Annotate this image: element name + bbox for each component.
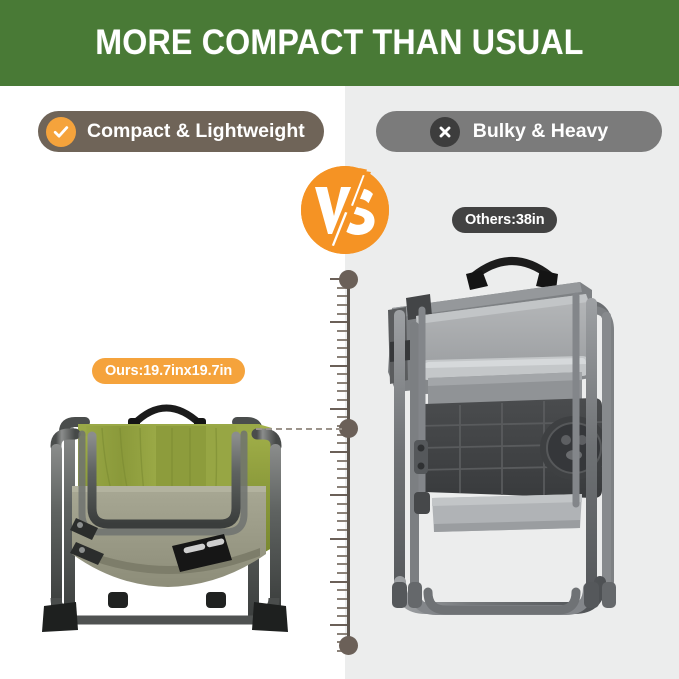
- badge-bulky-heavy: Bulky & Heavy: [376, 111, 662, 152]
- ruler-tick: [337, 416, 347, 418]
- ruler-tick: [337, 589, 347, 591]
- ruler-tick: [337, 468, 347, 470]
- ruler-tick: [330, 321, 347, 323]
- dimension-label-ours: Ours:19.7inx19.7in: [92, 358, 245, 384]
- infographic-root: MORE COMPACT THAN USUAL Compact & Lightw…: [0, 0, 679, 679]
- ruler-tick: [337, 382, 347, 384]
- measurement-ruler: [322, 270, 362, 660]
- versus-badge: [301, 166, 389, 254]
- product-image-others-folded-chair: [370, 252, 662, 656]
- header-banner: MORE COMPACT THAN USUAL: [0, 0, 679, 86]
- badge-right-label: Bulky & Heavy: [473, 120, 608, 143]
- ruler-tick: [337, 295, 347, 297]
- ruler-tick: [337, 313, 347, 315]
- ruler-tick: [337, 330, 347, 332]
- check-circle-icon: [46, 117, 76, 147]
- ruler-tick: [330, 494, 347, 496]
- ruler-marker-bottom: [339, 636, 358, 655]
- ruler-axis: [347, 278, 350, 653]
- ruler-tick: [337, 615, 347, 617]
- ruler-tick: [337, 572, 347, 574]
- measurement-connector-line: [256, 428, 342, 430]
- badge-compact-lightweight: Compact & Lightweight: [38, 111, 324, 152]
- ruler-tick: [330, 624, 347, 626]
- dimension-label-others: Others:38in: [452, 207, 557, 233]
- ruler-tick: [337, 555, 347, 557]
- badge-left-label: Compact & Lightweight: [87, 120, 305, 143]
- ruler-tick: [337, 373, 347, 375]
- ruler-tick: [337, 399, 347, 401]
- ruler-tick: [330, 451, 347, 453]
- ruler-tick: [330, 581, 347, 583]
- ruler-tick: [337, 607, 347, 609]
- ruler-tick: [330, 538, 347, 540]
- page-title: MORE COMPACT THAN USUAL: [95, 23, 583, 63]
- ruler-tick: [337, 442, 347, 444]
- ruler-tick: [337, 347, 347, 349]
- ruler-tick: [337, 520, 347, 522]
- x-circle-icon: [430, 117, 460, 147]
- ruler-tick: [337, 633, 347, 635]
- ruler-tick: [337, 460, 347, 462]
- ruler-tick: [337, 512, 347, 514]
- ruler-tick: [337, 503, 347, 505]
- ruler-tick: [337, 486, 347, 488]
- ruler-tick: [337, 598, 347, 600]
- ruler-tick: [337, 339, 347, 341]
- ruler-tick: [337, 563, 347, 565]
- ruler-marker-top: [339, 270, 358, 289]
- ruler-tick: [337, 390, 347, 392]
- ruler-tick: [330, 408, 347, 410]
- ruler-tick: [337, 546, 347, 548]
- ruler-tick: [337, 356, 347, 358]
- ruler-tick: [337, 304, 347, 306]
- ruler-tick: [330, 365, 347, 367]
- ruler-tick: [337, 529, 347, 531]
- ruler-tick: [337, 477, 347, 479]
